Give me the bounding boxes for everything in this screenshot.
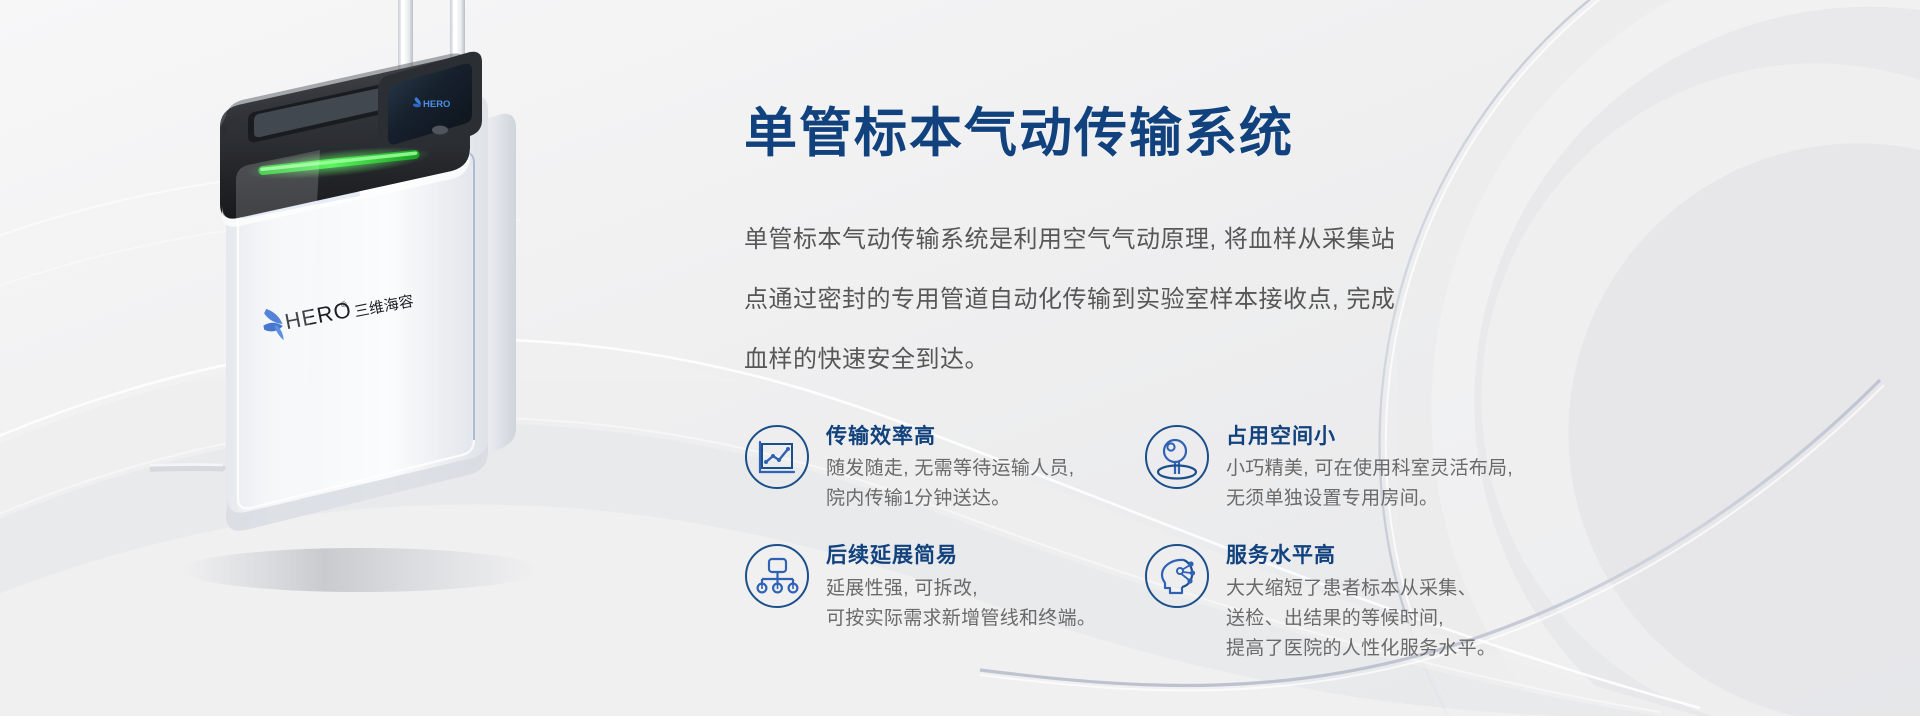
- page-title: 单管标本气动传输系统: [744, 104, 1294, 163]
- intro-line-2: 点通过密封的专用管道自动化传输到实验室样本接收点, 完成: [744, 270, 1544, 330]
- feature-desc-line: 送检、出结果的等候时间,: [1226, 604, 1496, 634]
- content-column: 单管标本气动传输系统 单管标本气动传输系统是利用空气气动原理, 将血样从采集站 …: [744, 0, 1804, 716]
- feature-description: 随发随走, 无需等待运输人员, 院内传输1分钟送达。: [826, 454, 1074, 514]
- feature-item-transfer-efficiency: 传输效率高 随发随走, 无需等待运输人员, 院内传输1分钟送达。: [744, 422, 1144, 514]
- feature-title: 传输效率高: [826, 423, 1074, 451]
- chart-line-icon: [744, 424, 810, 490]
- feature-title: 占用空间小: [1226, 423, 1513, 451]
- feature-list: 传输效率高 随发随走, 无需等待运输人员, 院内传输1分钟送达。: [744, 422, 1764, 664]
- intro-line-1: 单管标本气动传输系统是利用空气气动原理, 将血样从采集站: [744, 210, 1544, 270]
- location-pin-icon: [1144, 424, 1210, 490]
- feature-desc-line: 可按实际需求新增管线和终端。: [826, 604, 1096, 634]
- feature-item-service-level: 服务水平高 大大缩短了患者标本从采集、 送检、出结果的等候时间, 提高了医院的人…: [1144, 541, 1614, 663]
- banner-stage: HERO HERO ® 三维海容: [0, 0, 1920, 716]
- feature-desc-line: 随发随走, 无需等待运输人员,: [826, 454, 1074, 484]
- feature-desc-line: 院内传输1分钟送达。: [826, 484, 1074, 514]
- feature-title: 服务水平高: [1226, 542, 1496, 570]
- feature-description: 小巧精美, 可在使用科室灵活布局, 无须单独设置专用房间。: [1226, 454, 1513, 514]
- ai-head-icon: [1144, 543, 1210, 609]
- feature-description: 大大缩短了患者标本从采集、 送检、出结果的等候时间, 提高了医院的人性化服务水平…: [1226, 574, 1496, 664]
- feature-title: 后续延展简易: [826, 542, 1096, 570]
- intro-line-3: 血样的快速安全到达。: [744, 330, 1544, 390]
- svg-text:HERO: HERO: [423, 99, 450, 110]
- pneumatic-tube-station-illustration: HERO HERO ® 三维海容: [150, 0, 620, 716]
- feature-desc-line: 提高了医院的人性化服务水平。: [1226, 634, 1496, 664]
- intro-paragraph: 单管标本气动传输系统是利用空气气动原理, 将血样从采集站 点通过密封的专用管道自…: [744, 210, 1544, 390]
- feature-desc-line: 大大缩短了患者标本从采集、: [1226, 574, 1496, 604]
- feature-description: 延展性强, 可拆改, 可按实际需求新增管线和终端。: [826, 574, 1096, 634]
- product-image: HERO HERO ® 三维海容: [150, 0, 620, 716]
- feature-desc-line: 无须单独设置专用房间。: [1226, 484, 1513, 514]
- feature-desc-line: 小巧精美, 可在使用科室灵活布局,: [1226, 454, 1513, 484]
- feature-item-space-saving: 占用空间小 小巧精美, 可在使用科室灵活布局, 无须单独设置专用房间。: [1144, 422, 1614, 514]
- feature-item-easy-extension: 后续延展简易 延展性强, 可拆改, 可按实际需求新增管线和终端。: [744, 541, 1144, 663]
- feature-desc-line: 延展性强, 可拆改,: [826, 574, 1096, 604]
- network-tree-icon: [744, 543, 810, 609]
